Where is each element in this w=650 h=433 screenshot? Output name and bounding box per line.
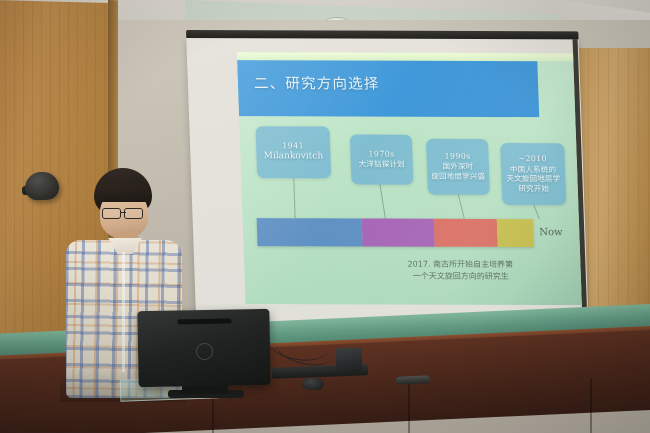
timeline-box-1-year: 1941 bbox=[282, 141, 304, 151]
timeline-bar bbox=[257, 218, 534, 247]
eyeglasses-icon bbox=[102, 208, 121, 219]
timeline-box-1: 1941 Milankovitch bbox=[255, 126, 331, 178]
timeline-box-3-label-line2: 旋回地层学兴盛 bbox=[431, 172, 485, 182]
mouse-icon[interactable] bbox=[302, 378, 324, 390]
bottom-note-line-1: 2017. 南古所开始自主培养第 bbox=[370, 258, 551, 270]
timeline-box-4-year: ~2010 bbox=[518, 154, 547, 164]
projected-slide: 二、研究方向选择 1941 Milankovitch 1970s 大洋钻探计划 … bbox=[237, 52, 582, 305]
timeline-box-4-label-line2: 天文旋回地层学 bbox=[506, 174, 560, 184]
timeline-bar-segment-2 bbox=[362, 218, 435, 246]
timeline-bar-segment-3 bbox=[433, 219, 498, 247]
timeline-bar-segment-1 bbox=[257, 218, 363, 246]
timeline-box-2-year: 1970s bbox=[368, 149, 394, 159]
presenter-shirt-placket bbox=[122, 252, 125, 372]
timeline-box-3-label-line1: 国外深时 bbox=[442, 162, 473, 172]
connector-line-3 bbox=[458, 195, 465, 219]
monitor-logo bbox=[196, 343, 213, 360]
presenter-fringe bbox=[96, 184, 151, 202]
connector-line-2 bbox=[380, 185, 386, 219]
timeline-box-3: 1990s 国外深时 旋回地层学兴盛 bbox=[426, 139, 490, 195]
photo-scene: 二、研究方向选择 1941 Milankovitch 1970s 大洋钻探计划 … bbox=[0, 0, 650, 433]
desk-panel-seam bbox=[590, 378, 592, 433]
desk-device[interactable] bbox=[336, 348, 362, 372]
wall-speaker-icon bbox=[25, 171, 60, 200]
timeline-box-1-label: Milankovitch bbox=[264, 152, 324, 164]
timeline-box-3-year: 1990s bbox=[444, 152, 470, 162]
timeline-box-2: 1970s 大洋钻探计划 bbox=[350, 134, 414, 184]
timeline-box-2-label: 大洋钻探计划 bbox=[359, 160, 406, 170]
eyeglasses-icon bbox=[124, 208, 143, 219]
connector-line-4 bbox=[533, 205, 540, 219]
timeline-bar-segment-4 bbox=[497, 219, 534, 247]
timeline-box-4-label-line3: 研究开始 bbox=[518, 184, 549, 194]
desk-panel-seam bbox=[408, 378, 410, 433]
monitor-vent bbox=[177, 319, 231, 325]
monitor-icon[interactable] bbox=[137, 309, 270, 387]
eyeglasses-bridge bbox=[121, 212, 126, 213]
now-label: Now bbox=[539, 227, 563, 238]
bottom-note-line-2: 一个天文旋回方向的研究生 bbox=[370, 270, 551, 282]
slide-title: 二、研究方向选择 bbox=[254, 72, 380, 93]
projection-screen: 二、研究方向选择 1941 Milankovitch 1970s 大洋钻探计划 … bbox=[186, 30, 588, 323]
connector-line-1 bbox=[293, 178, 295, 218]
timeline-box-4: ~2010 中国人系统的 天文旋回地层学 研究开始 bbox=[500, 143, 566, 205]
timeline-box-4-label-line1: 中国人系统的 bbox=[510, 165, 557, 175]
slide-bottom-note: 2017. 南古所开始自主培养第 一个天文旋回方向的研究生 bbox=[370, 258, 551, 282]
